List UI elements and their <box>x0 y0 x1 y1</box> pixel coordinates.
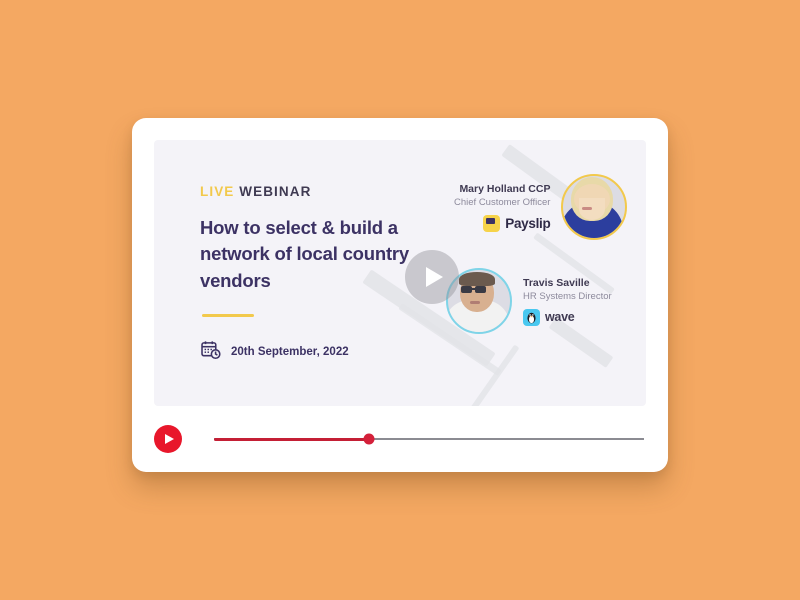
progress-scrubber-track[interactable] <box>214 438 644 440</box>
company-name: wave <box>545 310 574 324</box>
player-controls <box>154 406 646 472</box>
eyebrow-live-text: LIVE <box>200 184 234 199</box>
title-divider <box>202 314 254 317</box>
video-player-card: LIVE WEBINAR How to select & build a net… <box>132 118 668 472</box>
video-slide-panel[interactable]: LIVE WEBINAR How to select & build a net… <box>154 140 646 406</box>
slide-text-block: LIVE WEBINAR How to select & build a net… <box>200 184 435 366</box>
wave-penguin-logo-icon <box>523 309 540 326</box>
center-play-overlay-button[interactable] <box>405 250 459 304</box>
speaker-role: HR Systems Director <box>523 291 612 302</box>
progress-fill <box>214 438 369 441</box>
speaker-card-mary: Mary Holland CCP Chief Customer Officer … <box>454 174 627 240</box>
avatar-mary-holland <box>561 174 627 240</box>
progress-handle[interactable] <box>363 434 374 445</box>
event-date-row: 20th September, 2022 <box>200 339 435 366</box>
eyebrow-webinar-text: WEBINAR <box>239 184 311 199</box>
speaker-card-travis: Travis Saville HR Systems Director <box>446 268 612 334</box>
slide-title: How to select & build a network of local… <box>200 215 435 294</box>
speaker-info: Travis Saville HR Systems Director <box>523 277 612 326</box>
speaker-name: Mary Holland CCP <box>459 183 550 195</box>
company-logo-payslip: Payslip <box>483 215 550 232</box>
speaker-name: Travis Saville <box>523 277 590 289</box>
eyebrow-label: LIVE WEBINAR <box>200 184 435 199</box>
speaker-info: Mary Holland CCP Chief Customer Officer … <box>454 183 550 232</box>
event-date-text: 20th September, 2022 <box>231 346 349 358</box>
play-triangle-icon <box>426 267 443 287</box>
company-name: Payslip <box>505 216 550 231</box>
payslip-logo-icon <box>483 215 500 232</box>
company-logo-wave: wave <box>523 309 574 326</box>
screenshot-stage: LIVE WEBINAR How to select & build a net… <box>0 0 800 600</box>
speaker-role: Chief Customer Officer <box>454 197 550 208</box>
play-triangle-icon <box>165 434 174 444</box>
play-button[interactable] <box>154 425 182 453</box>
calendar-clock-icon <box>200 339 222 366</box>
